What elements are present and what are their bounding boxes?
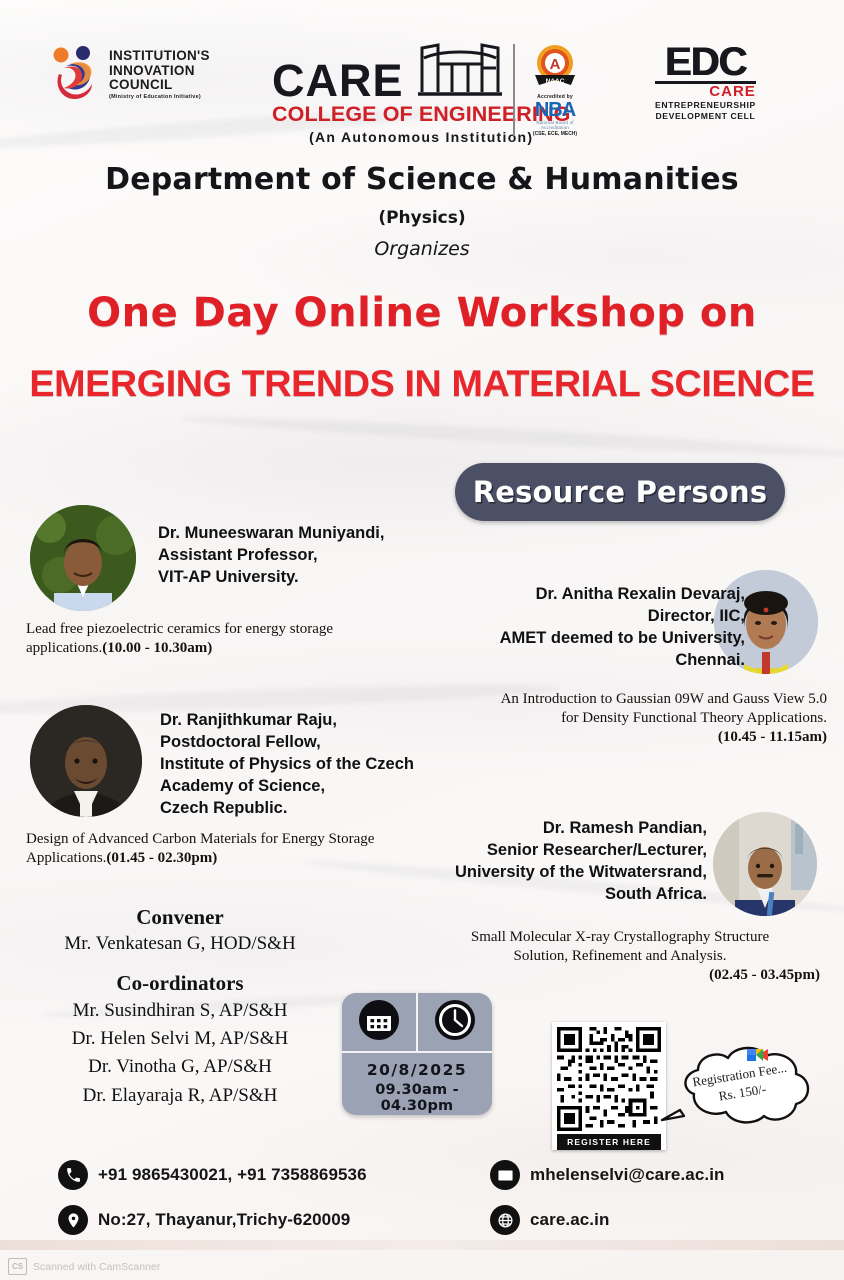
speaker-4-info: Dr. Ramesh Pandian, Senior Researcher/Le… [415,818,707,906]
resource-persons-badge: Resource Persons [455,463,785,521]
camscanner-watermark: CS Scanned with CamScanner [8,1258,160,1275]
nba-branches: (CSE, ECE, MECH) [523,131,587,137]
address-text: No:27, Thayanur,Trichy-620009 [98,1210,350,1230]
speaker-3-talk-line1: Design of Advanced Carbon Materials for [26,831,278,847]
qr-code[interactable] [557,1027,661,1131]
clock-icon-cell [418,993,492,1051]
event-title-line2: EMERGING TRENDS IN MATERIAL SCIENCE [0,363,844,405]
speaker-4-designation: Senior Researcher/Lecturer, [415,840,707,862]
speaker-4-talk-line1: Small Molecular X-ray Crystallography St… [420,928,820,947]
scan-edge-artifact [0,1240,844,1250]
speaker-4-name: Dr. Ramesh Pandian, [415,818,707,840]
college-name: CARE [272,60,404,101]
department-title: Department of Science & Humanities [0,162,844,197]
nba-badge: Accredited by NBA National Board of Accr… [523,94,587,137]
speaker-photo-3 [30,705,142,817]
speaker-2-talk: An Introduction to Gaussian 09W and Gaus… [415,690,827,747]
website-url: care.ac.in [530,1210,609,1230]
qr-register-label: REGISTER HERE [557,1134,661,1150]
speaker-3-affiliation-2: Academy of Science, [160,776,414,798]
location-pin-icon [58,1205,88,1235]
event-date: 20/8/2025 [342,1061,492,1079]
iic-line-2: INNOVATION [109,64,210,79]
speaker-photo-1 [30,505,136,611]
iic-logo-text: INSTITUTION'S INNOVATION COUNCIL (Minist… [109,49,210,101]
speaker-3-talk: Design of Advanced Carbon Materials for … [26,830,406,868]
discipline-label: (Physics) [0,208,844,228]
envelope-icon [490,1160,520,1190]
contact-phone[interactable]: +91 9865430021, +91 7358869536 [58,1160,367,1190]
coordinator-1: Mr. Susindhiran S, AP/S&H [20,998,340,1024]
schedule-icons [342,993,492,1053]
clock-icon [434,999,476,1046]
svg-text:A: A [550,56,561,73]
phone-icon [58,1160,88,1190]
speaker-3-time: (01.45 - 02.30pm) [106,850,217,866]
nba-word: NBA [523,100,587,120]
calendar-icon-cell [342,993,418,1051]
speaker-photo-4 [713,812,817,916]
convener-name: Mr. Venkatesan G, HOD/S&H [20,933,340,955]
texture-streak [180,412,844,463]
globe-icon [490,1205,520,1235]
speaker-1-affiliation: VIT-AP University. [158,567,384,589]
poster-header: INSTITUTION'S INNOVATION COUNCIL (Minist… [0,38,844,146]
coordinator-4: Dr. Elayaraja R, AP/S&H [20,1083,340,1109]
speaker-2-talk-line1: An Introduction to Gaussian 09W and Gaus… [415,690,827,709]
organizes-label: Organizes [0,238,844,260]
speaker-2-time: (10.45 - 11.15am) [718,729,827,745]
email-address: mhelenselvi@care.ac.in [530,1165,725,1185]
edc-sub-line1: ENTREPRENEURSHIP [655,101,756,111]
contact-email[interactable]: mhelenselvi@care.ac.in [490,1160,725,1190]
event-time: 09.30am - 04.30pm [342,1082,492,1114]
speaker-2-talk-line2: for Density Functional Theory Applicatio… [415,709,827,728]
edc-word: EDC [655,44,756,80]
speaker-4-affiliation-2: South Africa. [415,884,707,906]
phone-numbers: +91 9865430021, +91 7358869536 [98,1165,367,1185]
speaker-3-designation: Postdoctoral Fellow, [160,732,414,754]
resource-persons-label: Resource Persons [473,475,768,509]
header-divider [513,44,515,136]
speaker-3-info: Dr. Ranjithkumar Raju, Postdoctoral Fell… [160,710,414,820]
event-title-line1: One Day Online Workshop on [0,290,844,336]
speaker-4-affiliation: University of the Witwatersrand, [415,862,707,884]
edc-care-label: CARE [655,83,756,100]
nba-fullname: National Board of Accreditation [523,120,587,130]
iic-ministry-note: (Ministry of Education Initiative) [109,95,210,101]
speaker-2-info: Dr. Anitha Rexalin Devaraj, Director, II… [420,584,745,672]
calendar-icon [358,999,400,1046]
coordinators-heading: Co-ordinators [20,971,340,996]
registration-qr-block[interactable]: REGISTER HERE [552,1022,666,1150]
organisers-block: Convener Mr. Venkatesan G, HOD/S&H Co-or… [20,905,340,1109]
speaker-1-info: Dr. Muneeswaran Muniyandi, Assistant Pro… [158,523,384,589]
speaker-1-talk-line1: Lead free piezoelectric ceramics for ene… [26,621,286,637]
naac-badge-icon: A NAAC [531,42,579,90]
speaker-2-affiliation: AMET deemed to be University, [420,628,745,650]
contact-address: No:27, Thayanur,Trichy-620009 [58,1205,350,1235]
speaker-1-talk: Lead free piezoelectric ceramics for ene… [26,620,386,658]
contact-website[interactable]: care.ac.in [490,1205,609,1235]
coordinator-2: Dr. Helen Selvi M, AP/S&H [20,1026,340,1052]
iic-logo: INSTITUTION'S INNOVATION COUNCIL (Minist… [50,44,210,106]
iic-emblem-icon [50,44,102,106]
speaker-1-name: Dr. Muneeswaran Muniyandi, [158,523,384,545]
speaker-1-designation: Assistant Professor, [158,545,384,567]
camscanner-badge: CS [8,1258,27,1275]
poster-canvas: INSTITUTION'S INNOVATION COUNCIL (Minist… [0,0,844,1280]
iic-line-1: INSTITUTION'S [109,49,210,64]
speaker-1-time: (10.00 - 10.30am) [102,640,212,656]
speaker-2-designation: Director, IIC, [420,606,745,628]
speaker-3-name: Dr. Ranjithkumar Raju, [160,710,414,732]
edc-logo: EDC CARE ENTREPRENEURSHIP DEVELOPMENT CE… [655,44,756,122]
convener-heading: Convener [20,905,340,930]
speaker-4-talk: Small Molecular X-ray Crystallography St… [420,928,820,985]
iic-line-3: COUNCIL [109,78,210,93]
camscanner-text: Scanned with CamScanner [33,1261,160,1273]
speaker-4-time: (02.45 - 03.45pm) [709,967,820,983]
college-building-icon [412,42,508,101]
speaker-4-talk-line2: Solution, Refinement and Analysis. [420,947,820,966]
speaker-3-affiliation-3: Czech Republic. [160,798,414,820]
speaker-3-affiliation: Institute of Physics of the Czech [160,754,414,776]
schedule-box: 20/8/2025 09.30am - 04.30pm [342,993,492,1115]
accreditation-block: A NAAC Accredited by NBA National Board … [523,42,587,137]
speaker-2-name: Dr. Anitha Rexalin Devaraj, [420,584,745,606]
edc-sub-line2: DEVELOPMENT CELL [655,112,756,122]
speaker-2-affiliation-2: Chennai. [420,650,745,672]
coordinator-3: Dr. Vinotha G, AP/S&H [20,1054,340,1080]
svg-text:NAAC: NAAC [546,78,565,85]
